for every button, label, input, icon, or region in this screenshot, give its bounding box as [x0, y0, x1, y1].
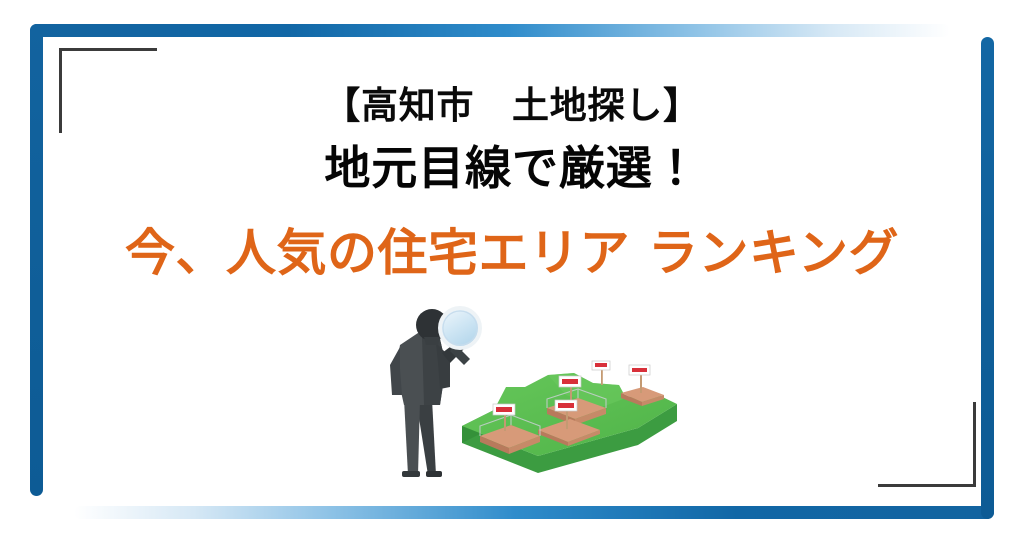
corner-bracket-top-left-horizontal [59, 48, 157, 51]
illustration-person-searching-land [388, 303, 678, 498]
sign-text [562, 379, 578, 384]
sign-text [595, 363, 607, 367]
person-neck [424, 337, 440, 345]
person-shoe-back [426, 471, 442, 477]
corner-bracket-bottom-right-vertical [973, 402, 976, 487]
sign-text [558, 403, 574, 408]
corner-bracket-bottom-right-horizontal [878, 484, 976, 487]
person-shoe-front [402, 471, 420, 477]
page-title: 地元目線で厳選！ [0, 140, 1024, 196]
corner-bracket-bottom-right [878, 402, 976, 487]
subheadline-text: 今、人気の住宅エリア ランキング [0, 222, 1024, 284]
frame-bar-bottom [74, 506, 994, 519]
banner-canvas: 【高知市 土地探し】 地元目線で厳選！ 今、人気の住宅エリア ランキング [0, 0, 1024, 542]
person-leg-front [404, 399, 420, 475]
sign-text [496, 407, 512, 412]
eyebrow-text: 【高知市 土地探し】 [0, 84, 1024, 128]
for-sale-sign [592, 361, 610, 385]
frame-bar-top [30, 24, 950, 37]
sign-text [632, 368, 647, 372]
